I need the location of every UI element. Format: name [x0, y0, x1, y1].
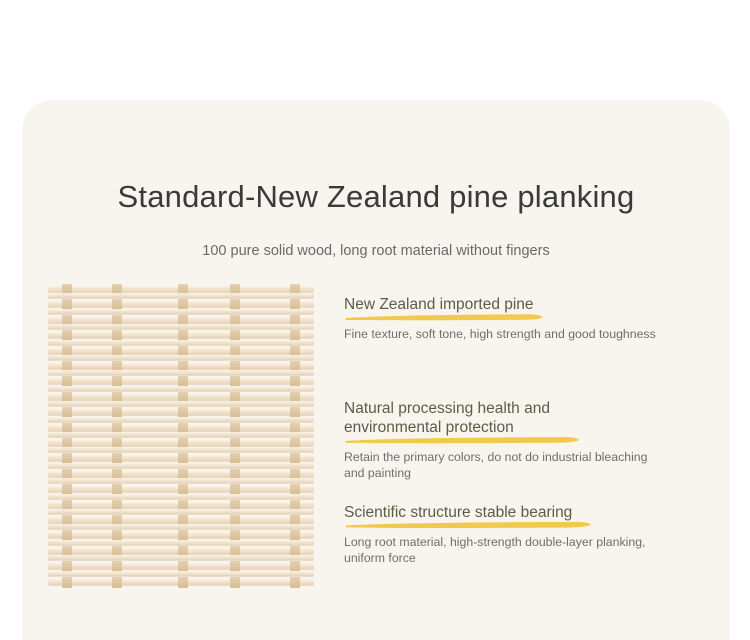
slat-plank [48, 555, 314, 560]
slat-plank [48, 540, 314, 545]
slat-plank [48, 401, 314, 406]
product-info-card: Standard-New Zealand pine planking 100 p… [22, 100, 730, 640]
page-subtitle: 100 pure solid wood, long root material … [22, 243, 730, 259]
slat-plank [48, 324, 314, 329]
slat-plank [48, 494, 314, 499]
slat-support-block [112, 577, 122, 588]
slat-plank [48, 432, 314, 437]
feature-heading: Natural processing health and environmen… [344, 400, 714, 438]
slat-plank [48, 370, 314, 375]
slat-support-block [178, 577, 188, 588]
slat-plank [48, 417, 314, 422]
slat-plank [48, 571, 314, 576]
feature-item-1: New Zealand imported pine Fine texture, … [344, 296, 714, 342]
slat-plank [48, 340, 314, 345]
feature-heading: New Zealand imported pine [344, 296, 714, 315]
page-title: Standard-New Zealand pine planking [22, 179, 730, 215]
slat-plank [48, 309, 314, 314]
feature-item-3: Scientific structure stable bearing Long… [344, 504, 714, 566]
slat-plank [48, 509, 314, 514]
slat-plank [48, 447, 314, 452]
slat-support-block [62, 577, 72, 588]
wooden-slat-planking-image [48, 285, 314, 590]
feature-body: Fine texture, soft tone, high strength a… [344, 326, 714, 342]
slat-plank [48, 293, 314, 298]
slat-plank [48, 524, 314, 529]
slat-support-block [290, 577, 300, 588]
slat-plank [48, 386, 314, 391]
slat-pattern [48, 285, 314, 590]
feature-heading: Scientific structure stable bearing [344, 504, 714, 523]
feature-body: Long root material, high-strength double… [344, 534, 714, 566]
slat-plank [48, 478, 314, 483]
feature-body: Retain the primary colors, do not do ind… [344, 449, 714, 481]
feature-item-2: Natural processing health and environmen… [344, 400, 714, 481]
slat-support-block [230, 577, 240, 588]
slat-plank [48, 355, 314, 360]
slat-plank [48, 463, 314, 468]
